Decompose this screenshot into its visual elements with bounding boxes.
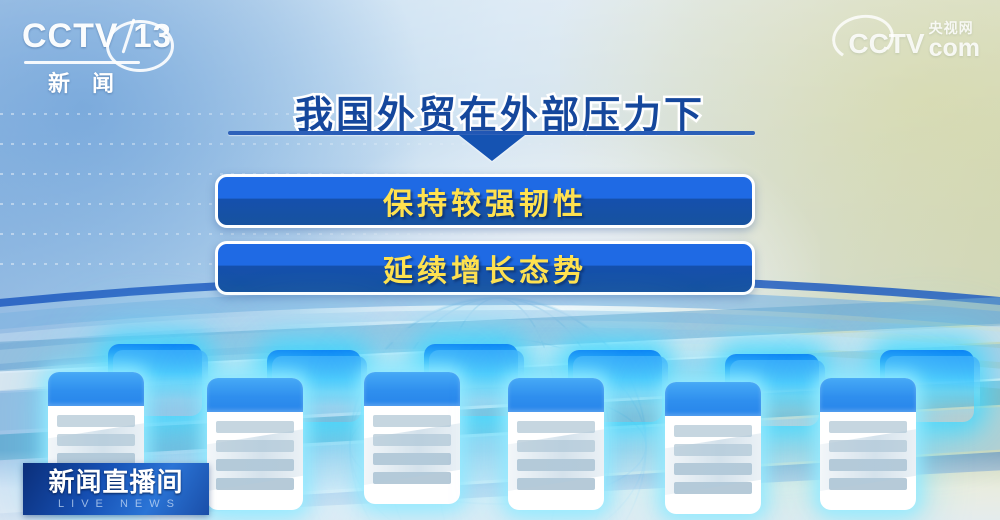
document-card-line: [829, 421, 907, 433]
document-card-lines: [665, 416, 761, 494]
channel-logo-cctv: CCTV: [22, 18, 119, 54]
document-card-header: [508, 378, 604, 412]
key-point-label-1: 保持较强韧性: [383, 179, 587, 223]
document-card-lines: [820, 412, 916, 490]
document-card: [508, 378, 604, 510]
document-card-line: [57, 415, 135, 427]
web-logo-com: com: [929, 36, 980, 60]
channel-logo-underbar: [24, 61, 140, 64]
document-card-header: [820, 378, 916, 412]
document-card-line: [216, 459, 294, 471]
document-card-line: [674, 444, 752, 456]
document-card-line: [216, 421, 294, 433]
document-card-line: [373, 415, 451, 427]
document-card-line: [674, 463, 752, 475]
document-card-sheet: [364, 372, 460, 504]
document-card-line: [216, 440, 294, 452]
program-bug-subtitle: LIVE NEWS: [51, 497, 181, 511]
document-card-line: [829, 440, 907, 452]
document-card-line: [517, 459, 595, 471]
document-card-line: [517, 478, 595, 490]
document-card-line: [829, 478, 907, 490]
document-card-sheet: [508, 378, 604, 510]
document-card-line: [216, 478, 294, 490]
document-card-sheet: [820, 378, 916, 510]
broadcast-frame: CCTV 13 新 闻 CCTV 央视网 com 我国外贸在外部压力下 保持较强…: [0, 0, 1000, 520]
document-card-header: [665, 382, 761, 416]
document-card: [820, 378, 916, 510]
document-card-line: [517, 421, 595, 433]
program-bug: 新闻直播间 LIVE NEWS: [23, 463, 209, 515]
key-point-bar-1[interactable]: 保持较强韧性: [215, 174, 755, 228]
channel-logo: CCTV 13 新 闻: [22, 18, 172, 90]
document-card-line: [373, 453, 451, 465]
program-bug-title: 新闻直播间: [48, 467, 183, 497]
document-card-line: [674, 482, 752, 494]
document-card-sheet: [207, 378, 303, 510]
document-card-sheet: [665, 382, 761, 514]
document-card-line: [373, 434, 451, 446]
document-card-line: [674, 425, 752, 437]
document-card-lines: [364, 406, 460, 484]
key-point-label-2: 延续增长态势: [383, 246, 587, 290]
document-card: [364, 372, 460, 504]
document-card-lines: [508, 412, 604, 490]
document-card-header: [364, 372, 460, 406]
document-card-line: [373, 472, 451, 484]
document-card-lines: [207, 412, 303, 490]
document-card-header: [207, 378, 303, 412]
document-card: [665, 382, 761, 514]
chevron-down-icon: [459, 135, 525, 161]
document-card-line: [829, 459, 907, 471]
document-card-line: [57, 434, 135, 446]
document-card-line: [517, 440, 595, 452]
web-logo: CCTV 央视网 com: [848, 20, 980, 60]
channel-logo-ring-icon: [106, 20, 174, 72]
document-card-header: [48, 372, 144, 406]
document-card: [207, 378, 303, 510]
key-point-bar-2[interactable]: 延续增长态势: [215, 241, 755, 295]
